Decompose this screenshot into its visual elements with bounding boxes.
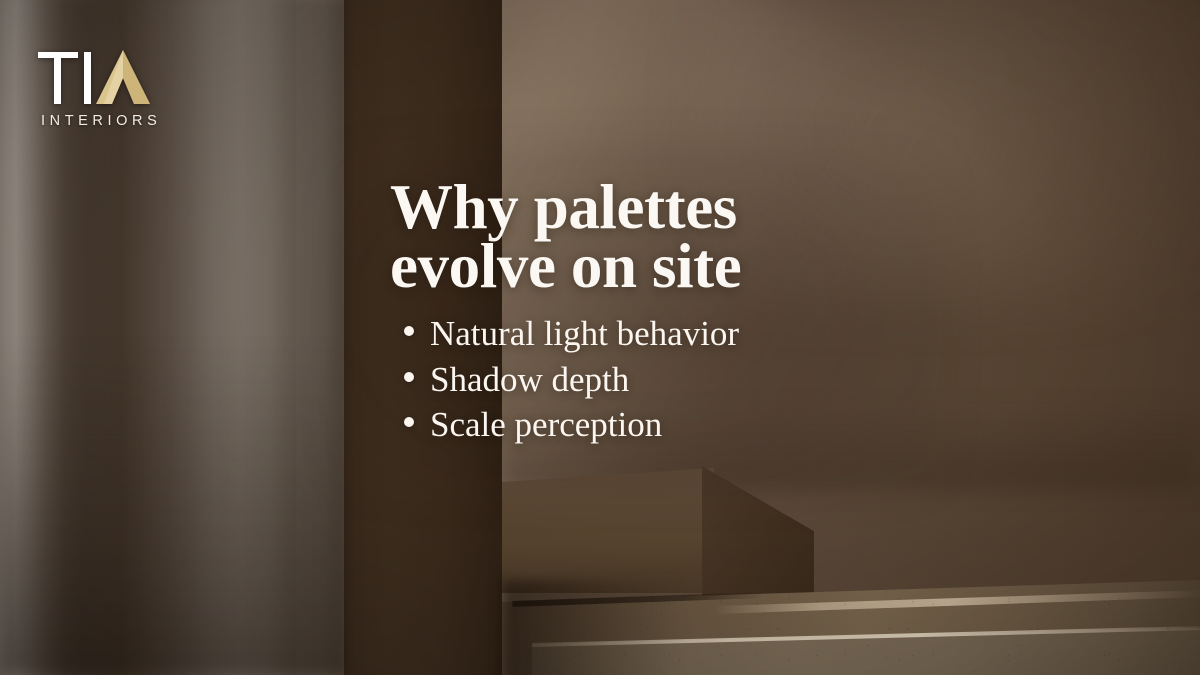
headline-line-1: Why palettes	[390, 178, 860, 237]
logo-tagline: INTERIORS	[41, 113, 161, 129]
bullet-list: Natural light behavior Shadow depth Scal…	[390, 311, 860, 448]
headline-line-2: evolve on site	[390, 237, 860, 296]
brand-logo[interactable]: INTERIORS	[38, 48, 161, 129]
bullet-label: Shadow depth	[430, 357, 629, 403]
bullet-label: Natural light behavior	[430, 311, 739, 357]
list-item: Shadow depth	[404, 357, 860, 403]
bullet-label: Scale perception	[430, 402, 662, 448]
bullet-dot-icon	[404, 326, 414, 336]
social-card-slide: INTERIORS Why palettes evolve on site Na…	[0, 0, 1200, 675]
bullet-dot-icon	[404, 372, 414, 382]
bullet-dot-icon	[404, 417, 414, 427]
list-item: Natural light behavior	[404, 311, 860, 357]
tia-monogram-icon	[38, 48, 150, 104]
list-item: Scale perception	[404, 402, 860, 448]
logo-wordmark-tia	[38, 48, 161, 104]
copy-block: Why palettes evolve on site Natural ligh…	[390, 178, 860, 448]
headline: Why palettes evolve on site	[390, 178, 860, 295]
